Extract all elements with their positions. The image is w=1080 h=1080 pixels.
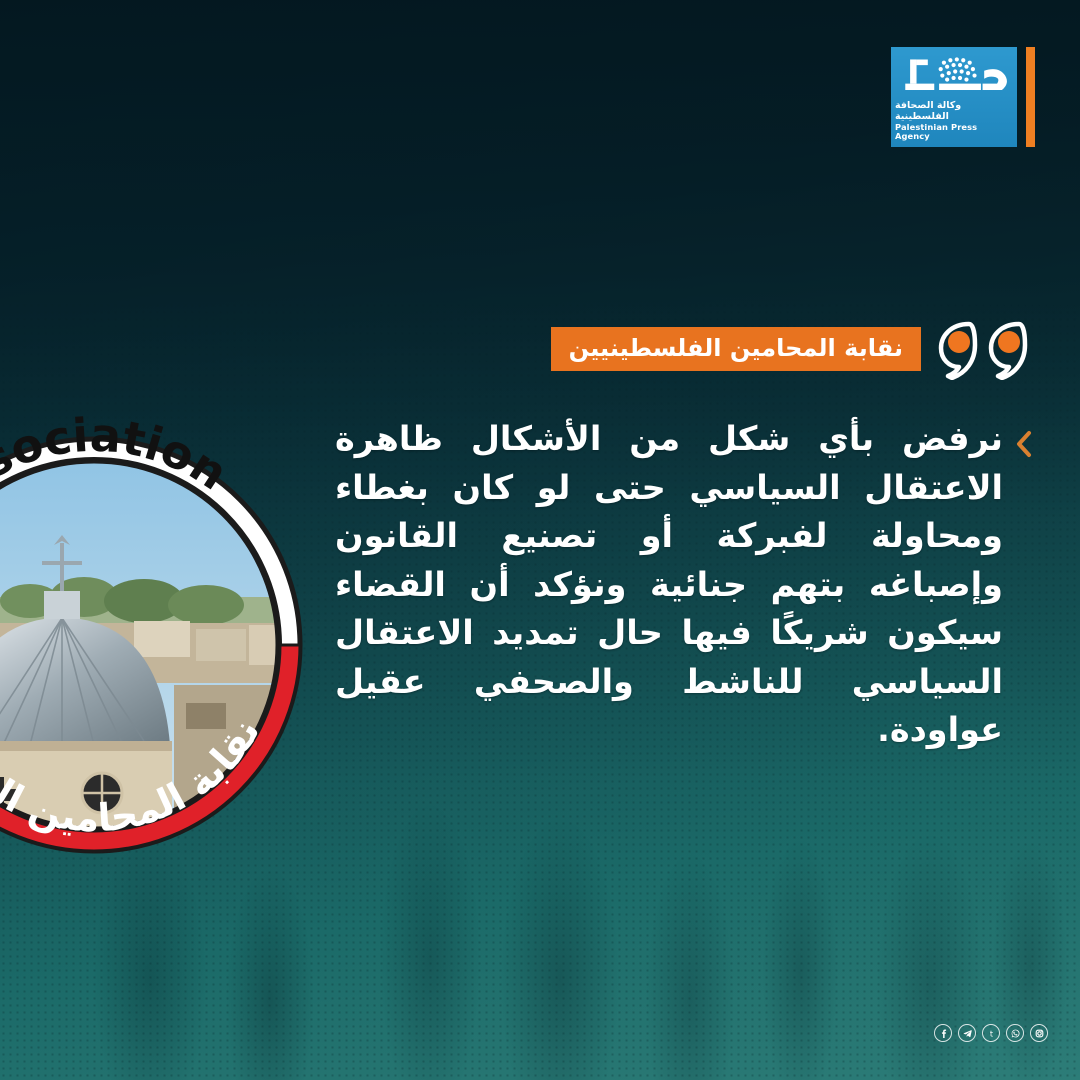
quote-dot-right (998, 331, 1020, 353)
safa-wordmark-icon (894, 53, 1015, 98)
brand-accent-bar (1026, 47, 1035, 147)
svg-text:t: t (989, 1029, 992, 1038)
whatsapp-icon[interactable] (1006, 1024, 1024, 1042)
poster-canvas: n Bar Association نقابة المحامين الفلس (0, 0, 1080, 1080)
safa-logo-box[interactable]: وكالة الصحافة الفلسطينية Palestinian Pre… (891, 47, 1017, 147)
organization-label-row: نقابة المحامين الفلسطينيين (551, 318, 1035, 380)
quote-block: نرفض بأي شكل من الأشكال ظاهرة الاعتقال ا… (335, 415, 1035, 755)
safa-brand-block[interactable]: وكالة الصحافة الفلسطينية Palestinian Pre… (891, 47, 1035, 147)
chevron-left-icon[interactable] (1013, 429, 1035, 459)
organization-label: نقابة المحامين الفلسطينيين (551, 327, 921, 371)
twitter-icon[interactable]: t (982, 1024, 1000, 1042)
double-quote-icon (935, 318, 1035, 380)
instagram-icon[interactable] (1030, 1024, 1048, 1042)
brand-english-subtitle: Palestinian Press Agency (895, 123, 1013, 142)
quote-text: نرفض بأي شكل من الأشكال ظاهرة الاعتقال ا… (335, 415, 1003, 755)
social-icon-bar: t (934, 1024, 1048, 1042)
facebook-icon[interactable] (934, 1024, 952, 1042)
telegram-icon[interactable] (958, 1024, 976, 1042)
brand-arabic-subtitle: وكالة الصحافة الفلسطينية (895, 101, 1013, 123)
quote-dot-left (948, 331, 970, 353)
palestinian-bar-association-seal: n Bar Association نقابة المحامين الفلس (0, 385, 354, 905)
